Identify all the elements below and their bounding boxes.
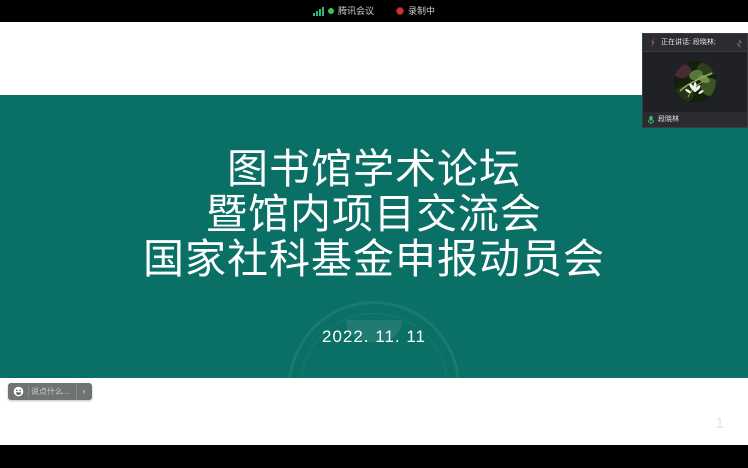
video-panel-body — [643, 52, 747, 112]
meeting-app-label: 腾讯会议 — [338, 6, 374, 16]
participant-avatar — [674, 61, 716, 103]
speaking-indicator-icon — [647, 37, 657, 48]
green-status-dot-icon — [328, 8, 334, 14]
bottom-black-bar — [0, 445, 748, 468]
recording-group: 录制中 — [396, 6, 435, 16]
meeting-app-group: 腾讯会议 — [313, 6, 374, 16]
chat-input-placeholder[interactable]: 说点什么... — [28, 386, 76, 397]
record-dot-icon — [396, 7, 404, 15]
video-panel-header: 正在讲话: 段晓林; — [643, 34, 747, 52]
video-panel-footer: 段晓林 — [643, 112, 747, 127]
recording-label: 录制中 — [408, 6, 435, 16]
slide-title-block: 图书馆学术论坛 暨馆内项目交流会 国家社科基金申报动员会 — [0, 147, 748, 282]
slide-letterbox-top — [0, 22, 748, 95]
slide-title-line-2: 暨馆内项目交流会 — [0, 192, 748, 237]
chevron-left-icon[interactable]: ‹ — [76, 383, 92, 400]
participant-video-panel[interactable]: 正在讲话: 段晓林; — [642, 33, 748, 128]
slide-title-line-1: 图书馆学术论坛 — [0, 147, 748, 192]
participant-name-label: 段晓林 — [658, 115, 679, 124]
signal-bars-icon — [313, 7, 324, 16]
meeting-screen-share: 腾讯会议 录制中 SHANGHAI NORMAL UNIVERSITY — [0, 0, 748, 468]
microphone-icon — [647, 115, 655, 125]
smiley-face-icon[interactable] — [8, 383, 28, 400]
chat-input-bar[interactable]: 说点什么... ‹ — [8, 383, 92, 400]
slide-title-line-3: 国家社科基金申报动员会 — [0, 237, 748, 282]
slide-letterbox-bottom — [0, 378, 748, 445]
presentation-slide: SHANGHAI NORMAL UNIVERSITY 图书馆学术论坛 暨馆内项目… — [0, 95, 748, 378]
more-options-icon[interactable] — [734, 37, 746, 49]
meeting-status-bar: 腾讯会议 录制中 — [0, 0, 748, 22]
slide-date: 2022. 11. 11 — [0, 327, 748, 347]
slide-page-number: 1 — [716, 416, 724, 432]
